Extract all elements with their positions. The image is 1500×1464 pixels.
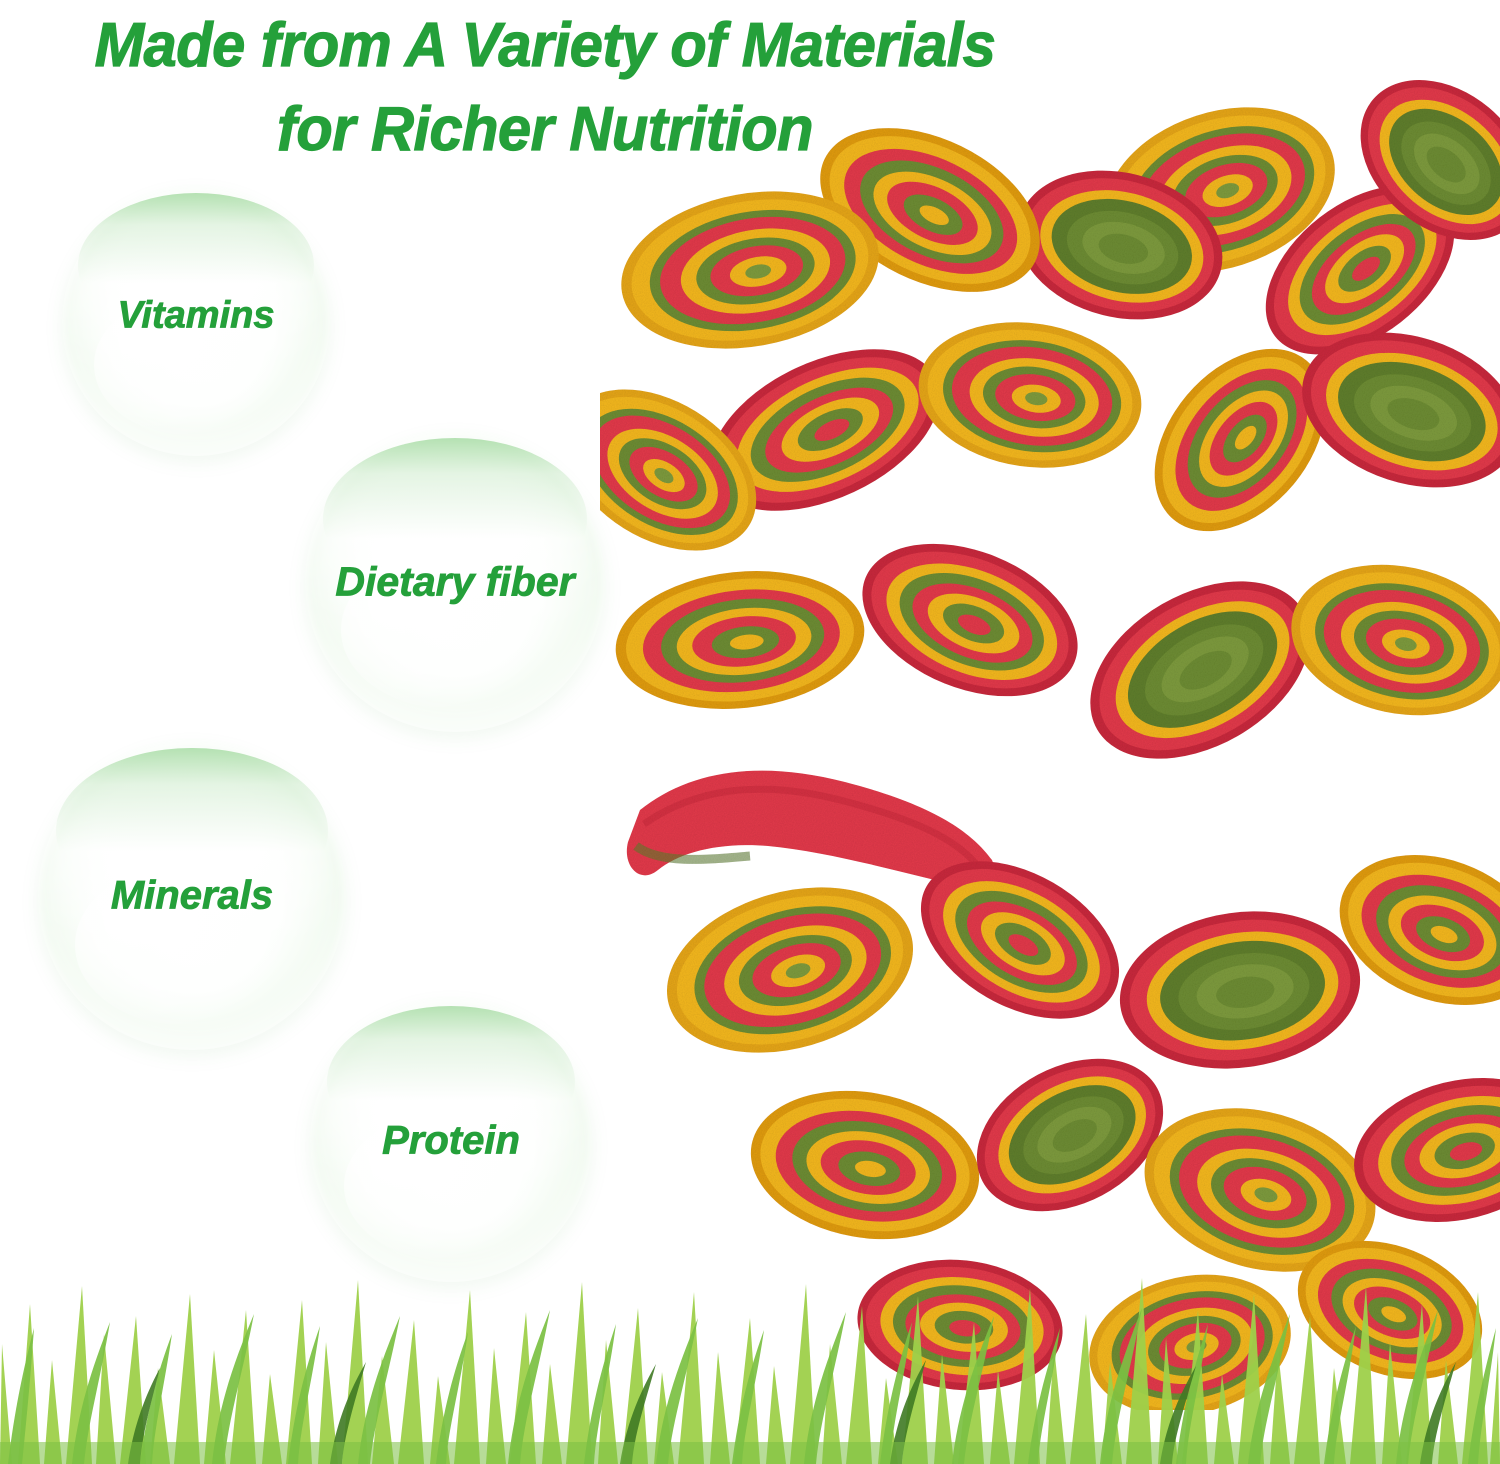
nutrient-bubble-label-vitamins: Vitamins: [62, 295, 330, 338]
page-title: Made from A Variety of Materials for Ric…: [0, 4, 1090, 171]
nutrient-bubble-label-dietary-fiber: Dietary fiber: [305, 559, 605, 606]
product-infographic-poster: Made from A Variety of Materials for Ric…: [0, 0, 1500, 1464]
headline-line-2: for Richer Nutrition: [22, 88, 1068, 172]
nutrient-bubble-protein: Protein: [310, 1000, 592, 1282]
nutrient-bubble-label-minerals: Minerals: [38, 874, 346, 919]
headline-line-1: Made from A Variety of Materials: [22, 4, 1068, 88]
nutrient-bubble-dietary-fiber: Dietary fiber: [305, 432, 605, 732]
nutrient-bubble-label-protein: Protein: [310, 1119, 592, 1164]
grass-decoration: [0, 1264, 1500, 1464]
nutrient-bubble-vitamins: Vitamins: [62, 188, 330, 456]
product-photo-dog-treats: [600, 40, 1500, 1410]
nutrient-bubble-minerals: Minerals: [38, 742, 346, 1050]
